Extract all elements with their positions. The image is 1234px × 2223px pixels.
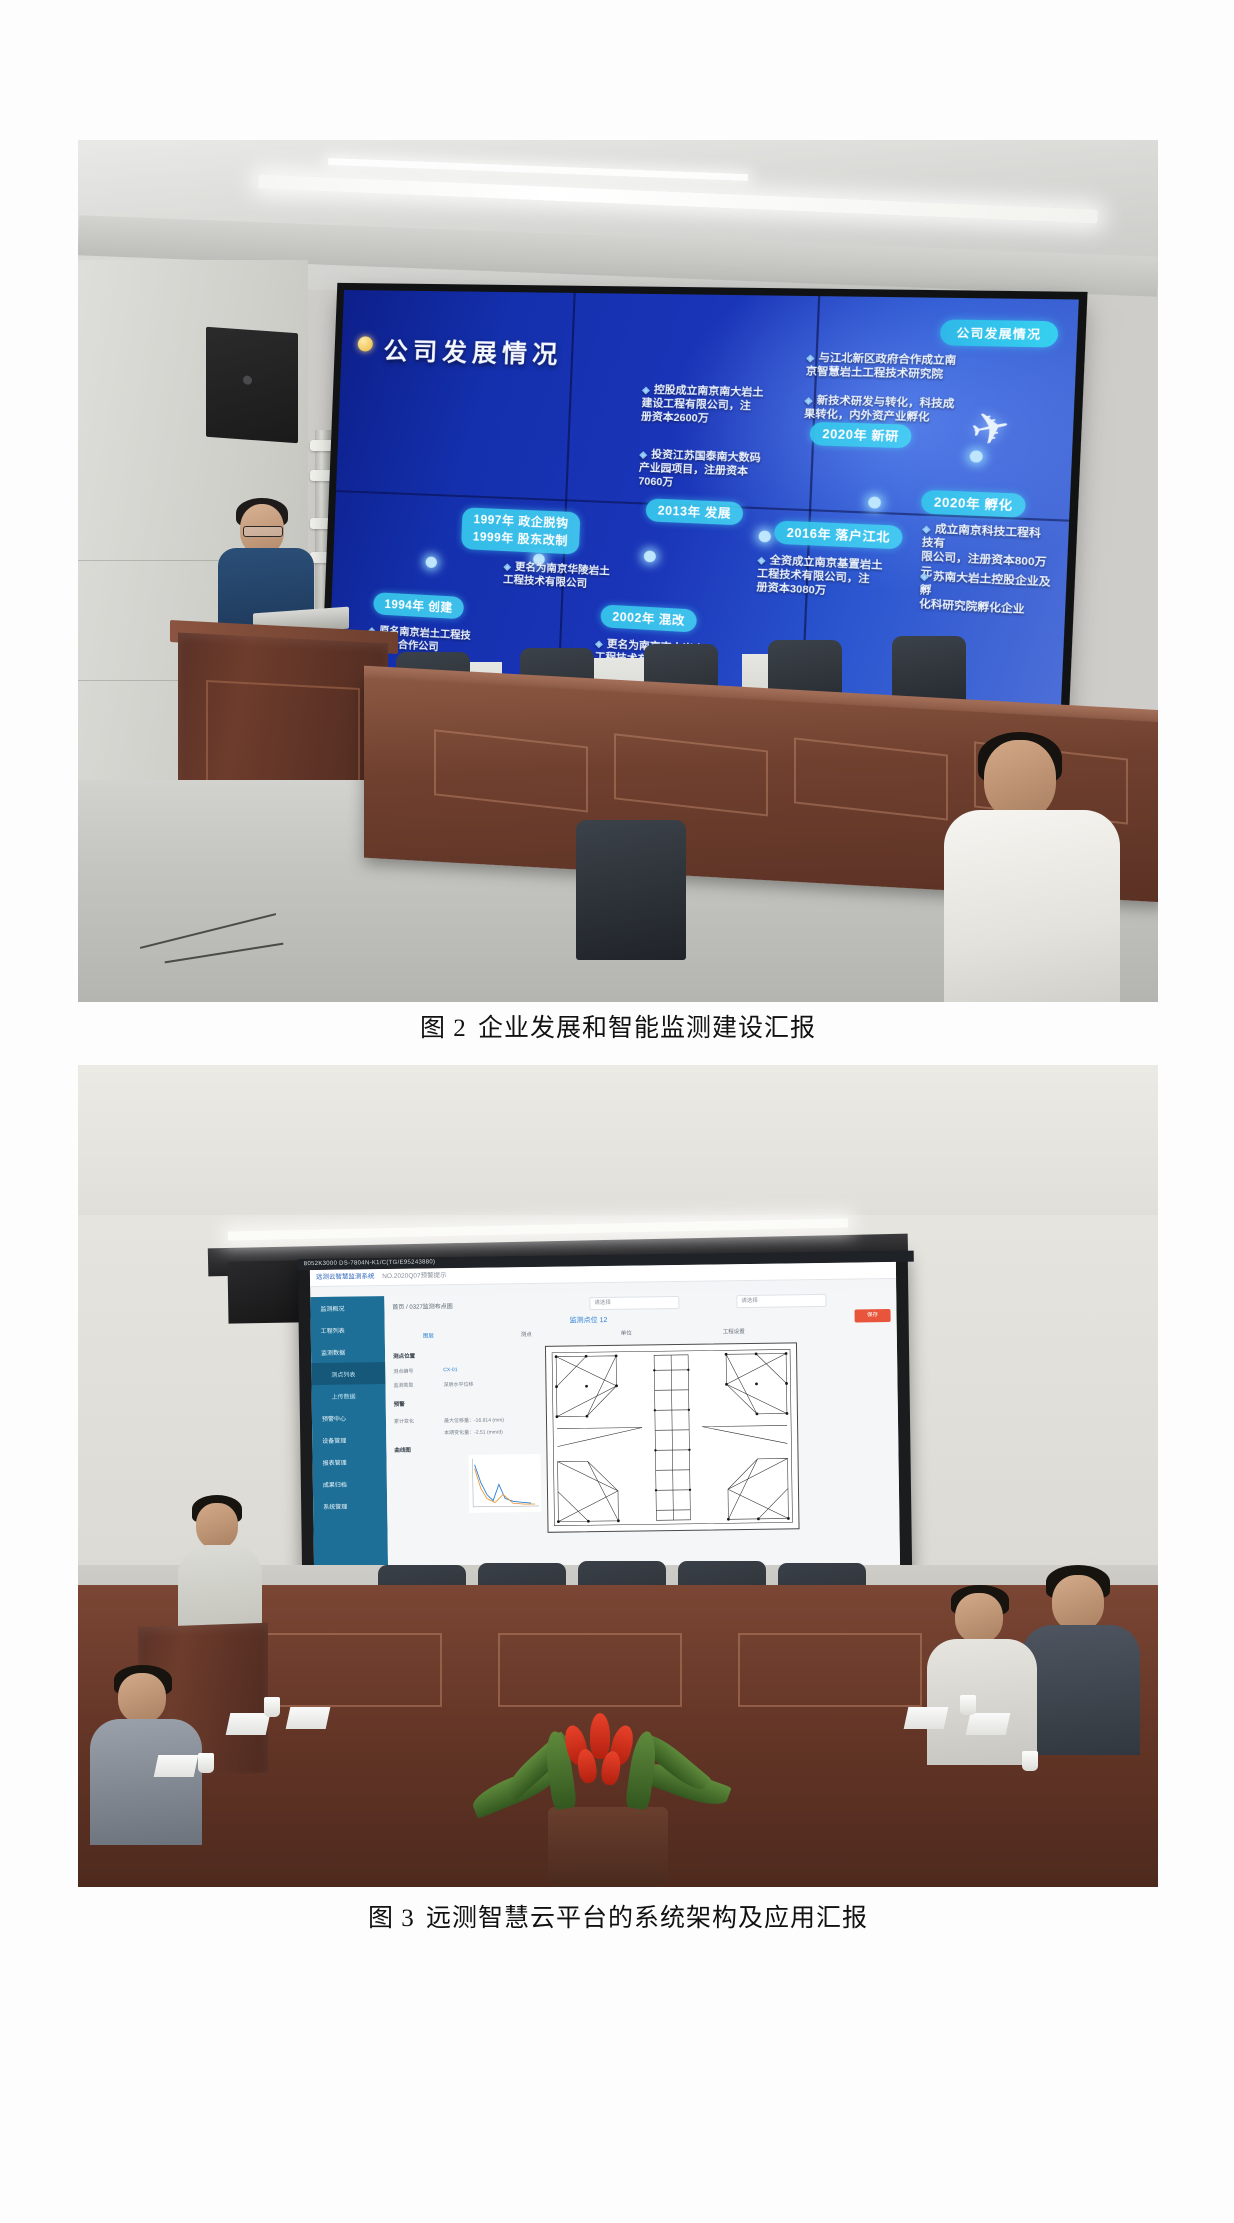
field-value: 本期变化量：-2.51 (mm/d) bbox=[444, 1428, 503, 1436]
figure-3-photo: 8052K3000 DS-7804N-K1/C(TG/E95243880) 远测… bbox=[78, 1065, 1158, 1887]
nameplate bbox=[904, 1707, 949, 1729]
timeline-node bbox=[644, 550, 656, 562]
toolbar-item-2[interactable]: 单位 bbox=[621, 1329, 632, 1337]
attendee-person bbox=[938, 740, 1128, 1002]
app-subtitle: NO.2020Q07预警提示 bbox=[382, 1272, 446, 1280]
sidebar-item-5[interactable]: 预警中心 bbox=[312, 1406, 386, 1429]
nameplate bbox=[154, 1755, 199, 1777]
nameplate bbox=[286, 1707, 331, 1729]
panel-label-1: 预警 bbox=[394, 1400, 405, 1408]
slide-extra-bullet: 投资江苏国泰南大数码 产业园项目，注册资本 7060万 bbox=[638, 448, 814, 496]
panel-label-2: 曲线图 bbox=[394, 1446, 411, 1454]
figure-2-caption: 图 2 企业发展和智能监测建设汇报 bbox=[78, 1008, 1158, 1044]
field-value: CX-01 bbox=[443, 1367, 457, 1373]
conference-room-photo-2: 8052K3000 DS-7804N-K1/C(TG/E95243880) 远测… bbox=[78, 1065, 1158, 1887]
monitoring-layout-drawing bbox=[545, 1342, 800, 1533]
plant-bloom bbox=[590, 1713, 610, 1759]
wall-speaker-icon bbox=[227, 1260, 300, 1323]
field-value: 深层水平位移 bbox=[443, 1381, 473, 1388]
timeline-bullet: 更名为南京华陵岩土 工程技术有限公司 bbox=[503, 560, 663, 595]
platform-sidebar[interactable]: 监测概况 工程列表 监测数据 测点列表 上传数据 预警中心 设备管理 报表管理 … bbox=[310, 1296, 388, 1573]
nameplate bbox=[226, 1713, 271, 1735]
timeline-year-pill: 2013年 发展 bbox=[645, 498, 743, 525]
field-key: 累计变化 bbox=[394, 1418, 414, 1425]
filter-select-1[interactable]: 请选择 bbox=[589, 1296, 679, 1310]
timeline-year-pill: 2002年 混改 bbox=[600, 604, 697, 632]
chair-foreground bbox=[576, 820, 686, 960]
sidebar-item-3[interactable]: 测点列表 bbox=[311, 1362, 385, 1385]
toolbar[interactable]: 图层 测点 单位 工程设置 bbox=[393, 1325, 889, 1344]
figure-2-photo: 公司发展情况 公司发展情况 ✈ 1994年 创建 1997年 政企脱钩 1999… bbox=[78, 140, 1158, 1002]
sidebar-item-4[interactable]: 上传数据 bbox=[311, 1384, 385, 1407]
platform-main: 首页 / 0327监测布点图 请选择 请选择 监测点位 12 图层 测点 单位 … bbox=[384, 1289, 900, 1572]
timeline-year-pill: 2020年 孵化 bbox=[921, 490, 1027, 518]
timeline-year-pill: 1997年 政企脱钩 1999年 股东改制 bbox=[461, 507, 581, 555]
cup bbox=[960, 1695, 976, 1715]
presenter-glasses-icon bbox=[243, 526, 283, 537]
breadcrumb: 首页 / 0327监测布点图 bbox=[392, 1301, 452, 1311]
slide-title: 公司发展情况 bbox=[383, 331, 564, 370]
document-page: 公司发展情况 公司发展情况 ✈ 1994年 创建 1997年 政企脱钩 1999… bbox=[0, 0, 1234, 2223]
conduit-clip bbox=[310, 518, 336, 529]
sidebar-item-6[interactable]: 设备管理 bbox=[312, 1428, 386, 1451]
sidebar-item-7[interactable]: 报表管理 bbox=[312, 1450, 386, 1473]
figure-3-caption-text: 远测智慧云平台的系统架构及应用汇报 bbox=[426, 1905, 868, 1932]
monitoring-point-count[interactable]: 监测点位 12 bbox=[570, 1315, 608, 1326]
timeline-node bbox=[425, 556, 437, 568]
field-value: 最大位移量：-16.814 (mm) bbox=[444, 1416, 504, 1424]
deformation-curve-chart bbox=[468, 1454, 541, 1513]
slide-corner-badge: 公司发展情况 bbox=[940, 319, 1059, 347]
toolbar-item-0[interactable]: 图层 bbox=[423, 1331, 434, 1339]
cup bbox=[264, 1697, 280, 1717]
attendee-person bbox=[923, 1585, 1043, 1765]
sidebar-item-2[interactable]: 监测数据 bbox=[311, 1340, 385, 1363]
slide-extra-bullet: 新技术研发与转化，科技成 果转化，内外资产业孵化 bbox=[804, 394, 975, 427]
field-key: 测点编号 bbox=[393, 1368, 413, 1375]
timeline-year-pill: 2020年 新研 bbox=[809, 422, 912, 449]
panel-label-0: 测点位置 bbox=[393, 1352, 415, 1360]
app-title: 远测云智慧监测系统 bbox=[316, 1273, 375, 1281]
nameplate bbox=[966, 1713, 1011, 1735]
toolbar-item-1[interactable]: 测点 bbox=[521, 1330, 532, 1338]
figure-2-caption-text: 企业发展和智能监测建设汇报 bbox=[478, 1015, 816, 1042]
toolbar-item-3[interactable]: 工程设置 bbox=[723, 1327, 745, 1335]
conference-room-photo-1: 公司发展情况 公司发展情况 ✈ 1994年 创建 1997年 政企脱钩 1999… bbox=[78, 140, 1158, 1002]
sidebar-item-1[interactable]: 工程列表 bbox=[311, 1318, 385, 1341]
conduit-clip bbox=[310, 470, 336, 481]
plant-pot bbox=[548, 1807, 668, 1887]
figure-3-caption: 图 3 远测智慧云平台的系统架构及应用汇报 bbox=[78, 1898, 1158, 1934]
figure-3-number: 图 3 bbox=[368, 1905, 415, 1932]
field-key: 监测类型 bbox=[393, 1382, 413, 1389]
cup bbox=[198, 1753, 214, 1773]
filter-select-2[interactable]: 请选择 bbox=[736, 1294, 826, 1308]
timeline-year-pill: 1994年 创建 bbox=[373, 592, 464, 619]
title-bullet-icon bbox=[358, 336, 374, 351]
conduit-clip bbox=[310, 440, 336, 451]
conduit-clip bbox=[310, 552, 336, 563]
cup bbox=[1022, 1751, 1038, 1771]
sidebar-item-0[interactable]: 监测概况 bbox=[310, 1296, 384, 1319]
sidebar-item-8[interactable]: 成果归档 bbox=[313, 1472, 387, 1495]
timeline-bullet: 与江北新区政府合作成立南 京智慧岩土工程技术研究院 bbox=[806, 351, 979, 383]
save-button[interactable]: 保存 bbox=[854, 1309, 890, 1323]
display-screen-frame: 8052K3000 DS-7804N-K1/C(TG/E95243880) 远测… bbox=[298, 1251, 913, 1589]
wall-speaker-icon bbox=[206, 327, 298, 443]
platform-screen: 远测云智慧监测系统 NO.2020Q07预警提示 监测概况 工程列表 监测数据 … bbox=[310, 1262, 900, 1573]
slide-extra-bullet: 苏南大岩土控股企业及孵 化科研究院孵化企业 bbox=[919, 570, 1052, 620]
figure-2-number: 图 2 bbox=[420, 1015, 467, 1042]
sidebar-item-9[interactable]: 系统管理 bbox=[313, 1494, 387, 1517]
timeline-bullet: 控股成立南京南大岩土 建设工程有限公司，注 册资本2600万 bbox=[641, 383, 817, 429]
timeline-bullet: 全资成立南京基置岩土 工程技术有限公司，注 册资本3080万 bbox=[756, 554, 928, 605]
